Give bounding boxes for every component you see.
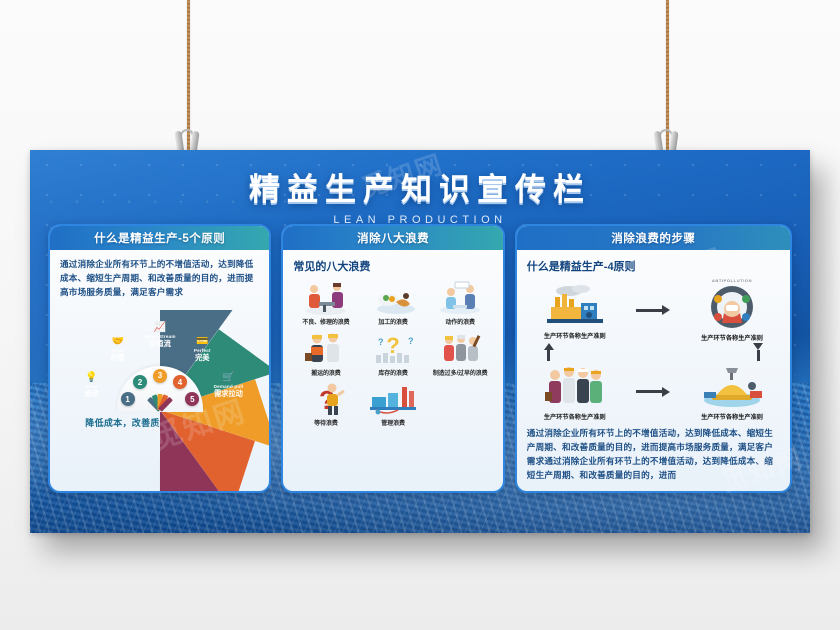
inventory-waste-icon: ??? <box>366 329 420 369</box>
panel3-description: 通过消除企业所有环节上的不增值活动，达到降低成本、缩短生产周期、和改善质量的目的… <box>527 427 780 483</box>
page-title: 精益生产知识宣传栏 <box>30 164 810 209</box>
waste-item-label: 库存的浪费 <box>378 371 408 378</box>
waste-item[interactable]: 制造过多/过早的浪费 <box>428 329 493 378</box>
flow-node-3: 生产环节各称生产准则 <box>527 362 623 421</box>
panel2-body: 常见的八大浪费 不良、修理的浪费加工的浪费动作的浪费搬运的浪费???库存的浪费制… <box>283 250 502 491</box>
flow-row-top: 生产环节各称生产准则 ANTIPOLLUTION <box>527 278 780 342</box>
fan-segment-1-cn: 流动 <box>66 390 118 398</box>
four-principles-flow: 生产环节各称生产准则 ANTIPOLLUTION <box>527 278 780 421</box>
waste-item-label: 搬运的浪费 <box>311 371 341 378</box>
flow-arrow-right-top <box>623 305 684 315</box>
helmet-tools-icon <box>696 362 768 410</box>
waste-grid: 不良、修理的浪费加工的浪费动作的浪费搬运的浪费???库存的浪费制造过多/过早的浪… <box>293 278 492 428</box>
waste-item[interactable]: 加工的浪费 <box>361 278 426 327</box>
waste-item-label: 不良、修理的浪费 <box>302 320 349 327</box>
waste-item[interactable]: ?等待浪费 <box>293 379 358 428</box>
fan-number-1: 1 <box>121 392 135 406</box>
fan-segment-1-en: Flow <box>66 384 118 389</box>
poster-stage: 觅知网 觅知网 觅知网 觅知网 精益生产知识宣传栏 LEAN PRODUCTIO… <box>0 0 840 630</box>
display-board: 觅知网 觅知网 觅知网 觅知网 精益生产知识宣传栏 LEAN PRODUCTIO… <box>30 150 810 533</box>
fan-segment-2-label: 🤝Value价值 <box>92 336 144 362</box>
waste-item-label: 管理浪费 <box>381 421 405 428</box>
waste-item[interactable]: 不良、修理的浪费 <box>293 278 358 327</box>
waste-item-label: 制造过多/过早的浪费 <box>433 371 488 378</box>
flow-node-2-label: 生产环节各称生产准则 <box>701 333 763 342</box>
panel1-body: 通过消除企业所有环节上的不增值活动，达到降低成本、缩短生产周期、和改善质量的目的… <box>50 250 269 491</box>
page-subtitle-en: LEAN PRODUCTION <box>30 214 810 226</box>
flow-node-2: ANTIPOLLUTION <box>684 278 780 342</box>
svg-text:?: ? <box>408 336 414 346</box>
waste-item[interactable]: 管理浪费 <box>361 379 426 428</box>
flow-vertical-arrows <box>527 342 780 362</box>
antipollution-icon <box>696 283 768 331</box>
waste-item-label: 动作的浪费 <box>445 320 475 327</box>
panel2-subtitle: 常见的八大浪费 <box>293 258 492 274</box>
panel1-header: 什么是精益生产-5个原则 <box>50 226 269 250</box>
fan-segment-1-label: 💡Flow流动 <box>66 372 118 398</box>
fan-segment-2-icon: 🤝 <box>92 336 144 347</box>
fan-segment-2-cn: 价值 <box>92 354 144 362</box>
panel3-body: 什么是精益生产-4原则 <box>517 250 790 491</box>
flow-node-1-label: 生产环节各称生产准则 <box>544 331 606 340</box>
waiting-waste-icon: ? <box>299 379 353 419</box>
five-principles-fan-diagram: 💡Flow流动1🤝Value价值2📈Value Stream价值流3💳Perfe… <box>60 306 260 410</box>
factory-icon <box>539 281 611 329</box>
waste-item-label: 等待浪费 <box>314 421 338 428</box>
panel3-subtitle: 什么是精益生产-4原则 <box>527 258 780 274</box>
board-title-block: 精益生产知识宣传栏 LEAN PRODUCTION <box>30 164 810 226</box>
waste-item[interactable]: 搬运的浪费 <box>293 329 358 378</box>
panel2-title: 消除八大浪费 <box>357 230 429 246</box>
panel2-header: 消除八大浪费 <box>283 226 502 250</box>
flow-node-1: 生产环节各称生产准则 <box>527 281 623 340</box>
mini-fan-icon <box>144 394 176 410</box>
workers-team-icon <box>539 362 611 410</box>
processing-waste-icon <box>366 278 420 318</box>
fan-segment-1-icon: 💡 <box>66 372 118 383</box>
flow-arrow-right-bottom <box>623 387 684 397</box>
panel1-description: 通过消除企业所有环节上的不增值活动，达到降低成本、缩短生产周期、和改善质量的目的… <box>60 258 259 300</box>
panel-elimination-steps: 消除浪费的步骤 什么是精益生产-4原则 <box>515 224 792 493</box>
waste-item[interactable]: 动作的浪费 <box>428 278 493 327</box>
flow-node-3-label: 生产环节各称生产准则 <box>544 412 606 421</box>
panel-eight-wastes: 消除八大浪费 常见的八大浪费 不良、修理的浪费加工的浪费动作的浪费搬运的浪费??… <box>281 224 504 493</box>
waste-item-label: 加工的浪费 <box>378 320 408 327</box>
flow-node-4: 生产环节各称生产准则 <box>684 362 780 421</box>
panel3-header: 消除浪费的步骤 <box>517 226 790 250</box>
overproduction-waste-icon <box>433 329 487 369</box>
transport-waste-icon <box>299 329 353 369</box>
flow-row-bottom: 生产环节各称生产准则 <box>527 362 780 421</box>
repair-waste-icon <box>299 278 353 318</box>
motion-waste-icon <box>433 278 487 318</box>
panel3-title: 消除浪费的步骤 <box>611 230 695 246</box>
flow-node-4-label: 生产环节各称生产准则 <box>701 412 763 421</box>
panels-container: 什么是精益生产-5个原则 通过消除企业所有环节上的不增值活动，达到降低成本、缩短… <box>48 224 792 493</box>
waste-item[interactable]: ???库存的浪费 <box>361 329 426 378</box>
management-waste-icon <box>366 379 420 419</box>
svg-text:?: ? <box>378 337 384 347</box>
panel-lean-principles: 什么是精益生产-5个原则 通过消除企业所有环节上的不增值活动，达到降低成本、缩短… <box>48 224 271 493</box>
panel1-title: 什么是精益生产-5个原则 <box>94 230 225 246</box>
fan-number-3: 3 <box>153 369 167 383</box>
fan-segment-2-en: Value <box>92 348 144 353</box>
